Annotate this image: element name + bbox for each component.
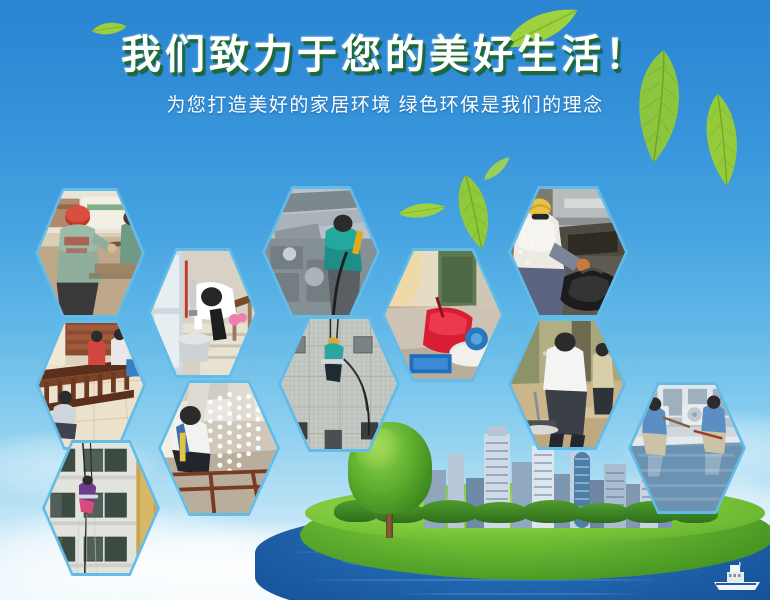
hex-image-clip [161, 383, 277, 513]
leaf-mid-left-small-icon [396, 194, 448, 228]
headline-block: 我们致力于您的美好生活！ 为您打造美好的家居环境 绿色环保是我们的理念 [0, 34, 770, 117]
hex-kitchen-degrease[interactable] [508, 186, 628, 318]
hex-image-clip [38, 191, 142, 315]
hex-ceiling-install[interactable] [158, 380, 280, 516]
banner-stage: 我们致力于您的美好生活！ 为您打造美好的家居环境 绿色环保是我们的理念 [0, 0, 770, 600]
hex-floor-polishing[interactable] [382, 248, 504, 382]
hex-image-clip [511, 321, 623, 447]
island-shrub [472, 502, 528, 523]
hex-image-clip [39, 323, 143, 447]
hex-image-clip [151, 251, 255, 375]
island-shrub [420, 500, 478, 523]
hex-image-clip [45, 443, 157, 573]
hex-image-clip [631, 385, 743, 511]
hex-image-clip [511, 189, 625, 315]
hex-worker-counter[interactable] [35, 188, 145, 318]
island-boat [712, 560, 762, 592]
page-subtitle: 为您打造美好的家居环境 绿色环保是我们的理念 [0, 90, 770, 117]
hex-image-clip [385, 251, 501, 379]
leaf-mid-right-small-icon [477, 152, 517, 185]
hex-rope-access[interactable] [42, 440, 160, 576]
hex-image-clip [265, 189, 377, 315]
island-shrub [522, 500, 582, 523]
leaf-mid-center-icon [441, 168, 504, 255]
page-title: 我们致力于您的美好生活！ [0, 34, 770, 76]
hex-handrail-install[interactable] [36, 320, 146, 450]
island-shrub [576, 503, 630, 523]
hex-stair-cleaning[interactable] [148, 248, 258, 378]
hex-duct-cleaning[interactable] [262, 186, 380, 318]
